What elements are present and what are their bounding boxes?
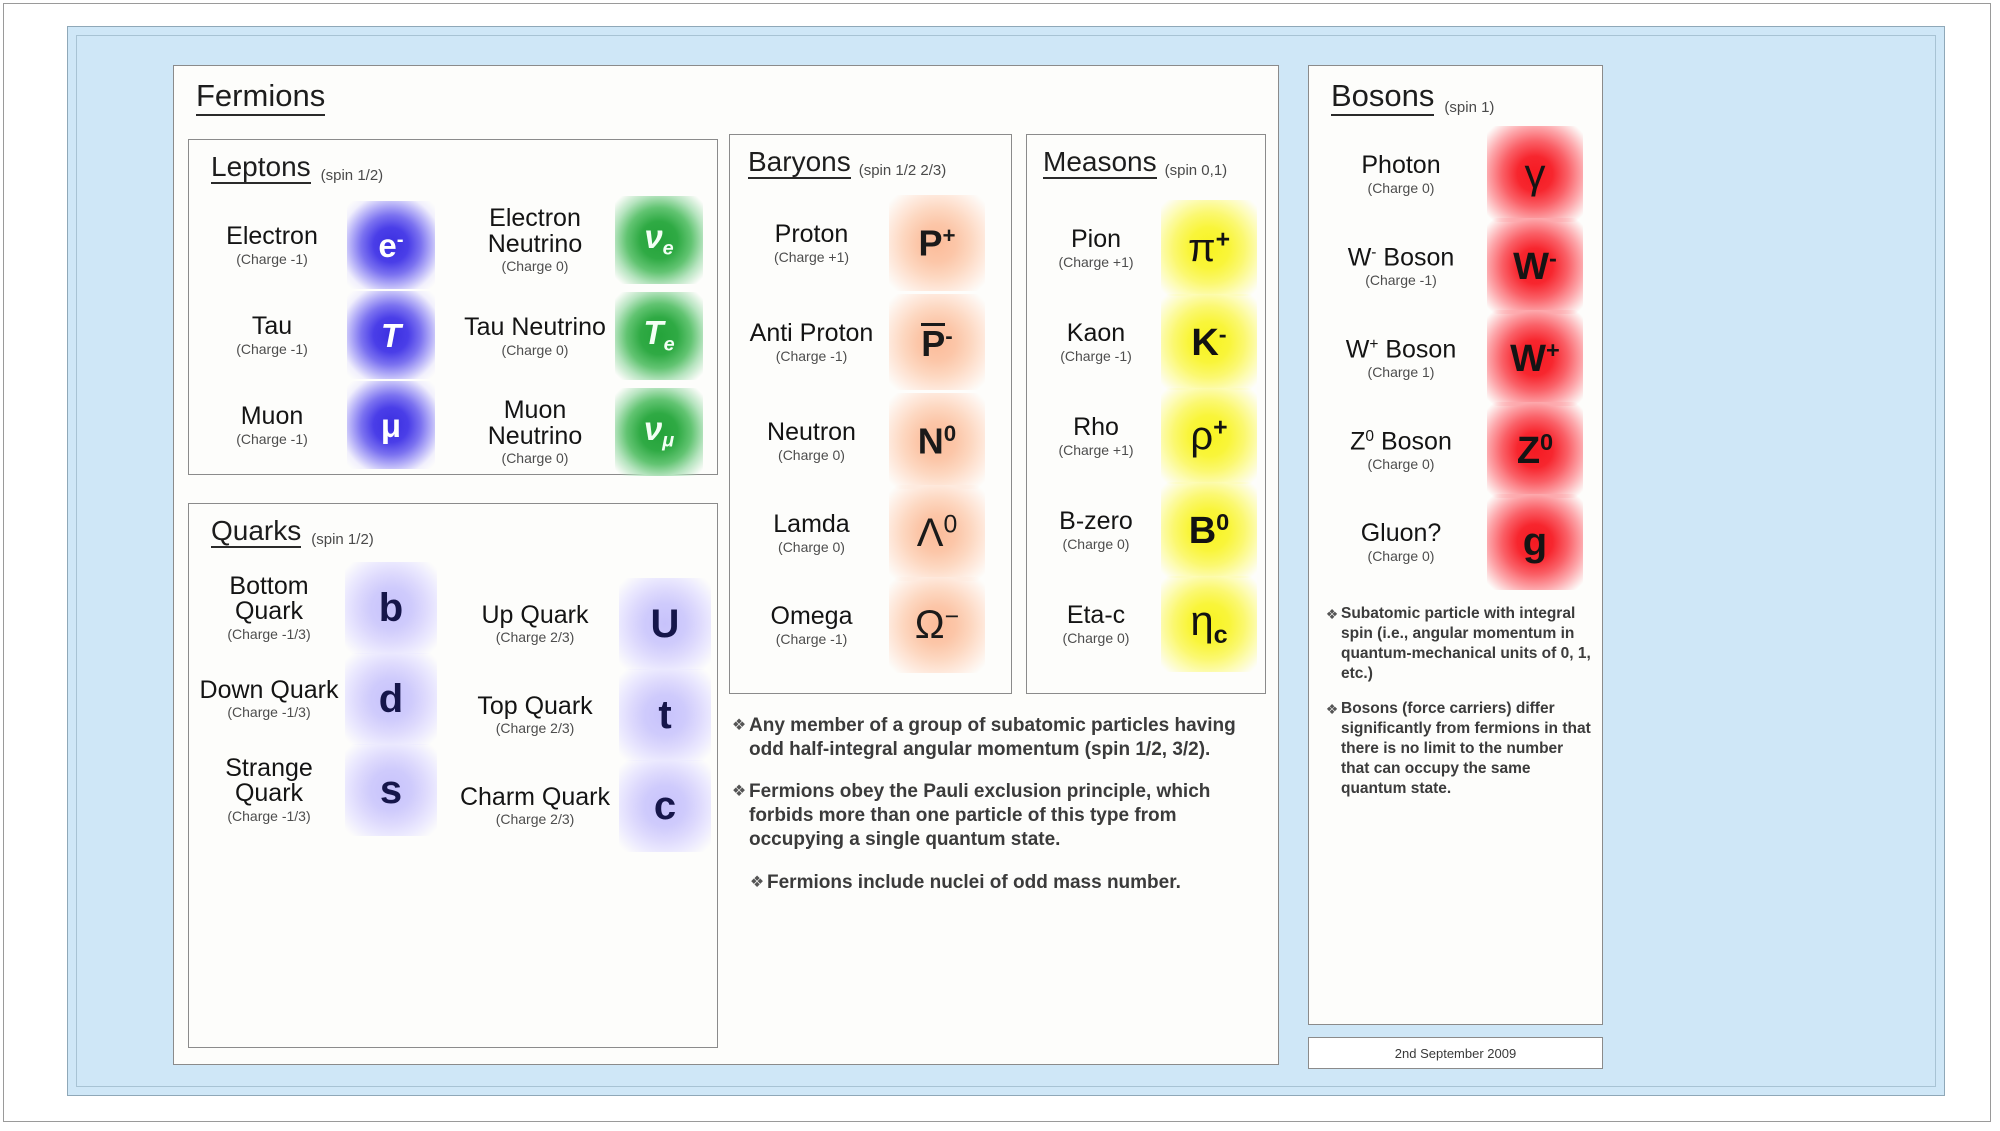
particle-symbol: T (643, 314, 663, 351)
particle-symbol-orb: s (345, 744, 437, 836)
bosons-note-text: Bosons (force carriers) differ significa… (1341, 699, 1591, 800)
particle-strange-quark: Strange Quark (Charge -1/3) s (193, 744, 453, 835)
bosons-title-row: Bosons (spin 1) (1331, 80, 1494, 116)
particle-symbol-orb: Ω− (889, 577, 985, 673)
particle-proton: Proton (Charge +1) P+ (734, 197, 1009, 289)
particle-symbol-sup: + (1216, 226, 1230, 253)
particle-symbol-sup: - (397, 227, 404, 250)
baryons-list: Proton (Charge +1) P+ Anti Proton (Charg… (734, 197, 1009, 671)
particle-symbol: W (1510, 337, 1546, 379)
particle-charge: (Charge 0) (734, 540, 889, 554)
particle-charge: (Charge -1) (734, 632, 889, 646)
particle-name-base: Z (1350, 427, 1365, 455)
particle-neutron: Neutron (Charge 0) N0 (734, 395, 1009, 487)
particle-name-base: W (1346, 335, 1370, 363)
particle-symbol: N (918, 420, 944, 461)
particle-charge: (Charge 0) (734, 448, 889, 462)
bullet-icon: ❖ (1323, 699, 1341, 719)
fermions-note-text: Any member of a group of subatomic parti… (749, 714, 1269, 763)
particle-symbol: ν (644, 218, 662, 255)
particle-muon: Muon (Charge -1) μ (197, 380, 455, 470)
particle-charge: (Charge 0) (1315, 181, 1487, 195)
particle-symbol-sub: e (664, 334, 675, 356)
bosons-notes: ❖ Subatomic particle with integral spin … (1323, 604, 1591, 813)
fermions-note: ❖ Any member of a group of subatomic par… (729, 714, 1269, 763)
bosons-note: ❖ Bosons (force carriers) differ signifi… (1323, 699, 1591, 800)
particle-symbol-orb: t (619, 669, 711, 761)
particle-symbol: U (651, 604, 680, 644)
particle-top-quark: Top Quark (Charge 2/3) t (451, 669, 713, 760)
particle-symbol-orb: T (347, 291, 435, 379)
particle-name: W+ Boson (1315, 337, 1487, 363)
quarks-title-row: Quarks (spin 1/2) (211, 516, 374, 548)
particle-symbol-orb: c (619, 760, 711, 852)
particle-photon: Photon (Charge 0) γ (1315, 128, 1600, 220)
particle-symbol-orb: e- (347, 201, 435, 289)
particle-symbol: η (1190, 597, 1213, 644)
measons-spin: (spin 0,1) (1165, 162, 1228, 179)
particle-name: Z0 Boson (1315, 429, 1487, 455)
date-label: 2nd September 2009 (1395, 1046, 1516, 1061)
particle-charge: (Charge +1) (1031, 255, 1161, 269)
particle-symbol-orb: μ (347, 381, 435, 469)
particle-charge: (Charge -1) (197, 252, 347, 266)
particle-symbol-orb: N0 (889, 393, 985, 489)
measons-box: Measons (spin 0,1) Pion (Charge +1) π+ (1026, 134, 1266, 694)
particle-symbol: t (658, 695, 671, 735)
particle-name: Strange Quark (193, 756, 345, 807)
particle-electron: Electron (Charge -1) e- (197, 200, 455, 290)
particle-symbol-sup: - (1219, 321, 1227, 347)
particle-b-zero: B-zero (Charge 0) B0 (1031, 483, 1265, 577)
particle-name: Neutron (734, 420, 889, 446)
particle-name: Pion (1031, 227, 1161, 253)
particle-symbol-orb: g (1487, 494, 1583, 590)
particle-symbol-sup: - (945, 323, 952, 348)
particle-symbol: γ (1525, 153, 1546, 195)
particle-symbol-sup: 0 (1216, 509, 1229, 535)
particle-symbol-orb: ηc (1161, 576, 1257, 672)
particle-name: Muon Neutrino (455, 398, 615, 449)
particle-charge: (Charge 1) (1315, 365, 1487, 379)
bosons-list: Photon (Charge 0) γ W- Boson (Charge -1)… (1315, 128, 1600, 588)
particle-symbol-orb: Te (615, 292, 703, 380)
particle-symbol-orb: d (345, 653, 437, 745)
particle-symbol-orb: Λ0 (889, 485, 985, 581)
particle-symbol-orb: ρ+ (1161, 388, 1257, 484)
quarks-left-column: Bottom Quark (Charge -1/3) b Down Quark … (193, 562, 453, 835)
particle-symbol: B (1189, 509, 1216, 551)
particle-symbol-orb: νe (615, 196, 703, 284)
particle-symbol-sup: + (1213, 414, 1227, 441)
particle-symbol-orb: W- (1487, 218, 1583, 314)
particle-name: Top Quark (451, 694, 619, 720)
particle-symbol-sup: 0 (1540, 429, 1553, 455)
particle-charge: (Charge 0) (1315, 457, 1487, 471)
measons-title-row: Measons (spin 0,1) (1043, 147, 1227, 179)
particle-symbol: s (380, 770, 402, 810)
particle-kaon: Kaon (Charge -1) K- (1031, 295, 1265, 389)
leptons-box: Leptons (spin 1/2) Electron (Charge -1) … (188, 139, 718, 475)
particle-charge: (Charge -1) (1315, 273, 1487, 287)
fermions-title-row: Fermions (196, 80, 325, 116)
baryons-title: Baryons (748, 147, 851, 179)
fermions-note: ❖ Fermions include nuclei of odd mass nu… (729, 871, 1269, 895)
particle-symbol-orb: γ (1487, 126, 1583, 222)
particle-eta-c: Eta-c (Charge 0) ηc (1031, 577, 1265, 671)
particle-symbol-orb: U (619, 578, 711, 670)
particle-symbol: P (921, 323, 945, 361)
particle-name: Charm Quark (451, 785, 619, 811)
particle-name: Gluon? (1315, 521, 1487, 547)
particle-symbol: Λ (917, 511, 944, 555)
particle-name: Tau (197, 314, 347, 340)
particle-charge: (Charge 2/3) (451, 721, 619, 735)
fermions-panel: Fermions Leptons (spin 1/2) Electron (Ch… (173, 65, 1279, 1065)
quarks-box: Quarks (spin 1/2) Bottom Quark (Charge -… (188, 503, 718, 1048)
particle-name: Photon (1315, 153, 1487, 179)
particle-symbol: d (379, 679, 403, 719)
particle-symbol-sup: 0 (943, 511, 957, 538)
bosons-title: Bosons (1331, 80, 1434, 116)
bosons-panel: Bosons (spin 1) Photon (Charge 0) γ W- B… (1308, 65, 1603, 1025)
particle-symbol-orb: Z0 (1487, 402, 1583, 498)
baryons-box: Baryons (spin 1/2 2/3) Proton (Charge +1… (729, 134, 1012, 694)
particle-symbol-orb: b (345, 562, 437, 654)
particle-lamda: Lamda (Charge 0) Λ0 (734, 487, 1009, 579)
quarks-spin: (spin 1/2) (311, 531, 374, 548)
particle-electron-neutrino: Electron Neutrino (Charge 0) νe (455, 192, 713, 288)
fermions-title: Fermions (196, 80, 325, 116)
particle-charge: (Charge 2/3) (451, 812, 619, 826)
particle-name: Electron (197, 224, 347, 250)
particle-symbol: b (379, 588, 403, 628)
particle-symbol: c (654, 786, 676, 826)
particle-rho: Rho (Charge +1) ρ+ (1031, 389, 1265, 483)
particle-symbol-orb: P- (889, 294, 985, 390)
particle-charge: (Charge +1) (734, 250, 889, 264)
particle-symbol: K (1191, 321, 1218, 363)
particle-symbol: π (1188, 226, 1216, 270)
particle-anti-proton: Anti Proton (Charge -1) P- (734, 289, 1009, 395)
particle-symbol-orb: K- (1161, 294, 1257, 390)
particle-symbol-orb: π+ (1161, 200, 1257, 296)
leptons-left-column: Electron (Charge -1) e- Tau (Charge -1) (197, 200, 455, 470)
particle-charge: (Charge -1/3) (193, 705, 345, 719)
particle-symbol-orb: B0 (1161, 482, 1257, 578)
particle-name: Muon (197, 404, 347, 430)
particle-symbol: ρ (1190, 414, 1213, 458)
particle-name: Kaon (1031, 321, 1161, 347)
particle-symbol: W (1513, 245, 1549, 287)
date-panel: 2nd September 2009 (1308, 1037, 1603, 1069)
particle-symbol-sup: 0 (944, 421, 956, 446)
particle-charge: (Charge -1) (734, 349, 889, 363)
baryons-title-row: Baryons (spin 1/2 2/3) (748, 147, 946, 179)
particle-symbol: ν (644, 410, 662, 447)
baryons-spin: (spin 1/2 2/3) (859, 162, 947, 179)
particle-muon-neutrino: Muon Neutrino (Charge 0) νμ (455, 384, 713, 480)
fermions-notes: ❖ Any member of a group of subatomic par… (729, 714, 1269, 912)
particle-name-sup: 0 (1365, 428, 1374, 445)
particle-symbol-sub: c (1214, 621, 1228, 649)
particle-symbol-orb: P+ (889, 195, 985, 291)
particle-name: Lamda (734, 512, 889, 538)
particle-tau-neutrino: Tau Neutrino (Charge 0) Te (455, 288, 713, 384)
particle-name: Tau Neutrino (455, 315, 615, 341)
particle-symbol-sup: + (942, 223, 955, 248)
particle-symbol-sup: − (945, 603, 959, 630)
particle-symbol-sub: e (663, 238, 674, 260)
bullet-icon: ❖ (729, 780, 749, 802)
leptons-title-row: Leptons (spin 1/2) (211, 152, 383, 184)
particle-name: W- Boson (1315, 245, 1487, 271)
bullet-icon: ❖ (747, 871, 767, 893)
particle-charge: (Charge -1) (197, 342, 347, 356)
quarks-title: Quarks (211, 516, 301, 548)
particle-z-zero-boson: Z0 Boson (Charge 0) Z0 (1315, 404, 1600, 496)
particle-bottom-quark: Bottom Quark (Charge -1/3) b (193, 562, 453, 653)
particle-symbol: Ω (915, 603, 945, 647)
particle-charge: (Charge 0) (455, 259, 615, 273)
particle-name: B-zero (1031, 509, 1161, 535)
particle-symbol: e (378, 227, 396, 264)
leptons-spin: (spin 1/2) (321, 167, 384, 184)
particle-w-minus-boson: W- Boson (Charge -1) W- (1315, 220, 1600, 312)
bosons-note-text: Subatomic particle with integral spin (i… (1341, 604, 1591, 685)
particle-symbol: μ (381, 409, 401, 442)
particle-symbol-sub: μ (662, 430, 674, 452)
particle-name: Proton (734, 222, 889, 248)
particle-name-base: W (1348, 243, 1372, 271)
blue-frame: Fermions Leptons (spin 1/2) Electron (Ch… (67, 26, 1945, 1096)
particle-name: Electron Neutrino (455, 206, 615, 257)
bosons-spin: (spin 1) (1444, 99, 1494, 116)
particle-name-tail: Boson (1376, 243, 1454, 271)
measons-list: Pion (Charge +1) π+ Kaon (Charge -1) (1031, 201, 1265, 671)
particle-tau: Tau (Charge -1) T (197, 290, 455, 380)
particle-name: Rho (1031, 415, 1161, 441)
bosons-note: ❖ Subatomic particle with integral spin … (1323, 604, 1591, 685)
particle-name-tail: Boson (1374, 427, 1452, 455)
particle-down-quark: Down Quark (Charge -1/3) d (193, 653, 453, 744)
particle-charge: (Charge -1/3) (193, 627, 345, 641)
particle-name: Up Quark (451, 603, 619, 629)
particle-symbol: g (1523, 522, 1547, 562)
particle-charge: (Charge 0) (1315, 549, 1487, 563)
particle-w-plus-boson: W+ Boson (Charge 1) W+ (1315, 312, 1600, 404)
fermions-note-text: Fermions include nuclei of odd mass numb… (767, 871, 1181, 895)
quarks-right-column: Up Quark (Charge 2/3) U Top Quark (Charg… (451, 578, 713, 851)
particle-charge: (Charge 0) (455, 451, 615, 465)
leptons-right-column: Electron Neutrino (Charge 0) νe Tau Neut… (455, 192, 713, 480)
particle-charge: (Charge -1/3) (193, 809, 345, 823)
fermions-note-text: Fermions obey the Pauli exclusion princi… (749, 780, 1269, 853)
particle-symbol: T (381, 319, 401, 352)
leptons-title: Leptons (211, 152, 311, 184)
particle-name: Eta-c (1031, 603, 1161, 629)
particle-name-tail: Boson (1378, 335, 1456, 363)
particle-charge: (Charge 0) (1031, 631, 1161, 645)
particle-up-quark: Up Quark (Charge 2/3) U (451, 578, 713, 669)
particle-omega: Omega (Charge -1) Ω− (734, 579, 1009, 671)
particle-charge: (Charge -1) (1031, 349, 1161, 363)
outer-frame: Fermions Leptons (spin 1/2) Electron (Ch… (3, 3, 1991, 1122)
particle-name: Omega (734, 604, 889, 630)
particle-name: Anti Proton (734, 321, 889, 347)
bullet-icon: ❖ (1323, 604, 1341, 624)
particle-symbol-orb: W+ (1487, 310, 1583, 406)
particle-charge: (Charge 0) (1031, 537, 1161, 551)
particle-symbol-sup: + (1546, 337, 1560, 363)
bullet-icon: ❖ (729, 714, 749, 736)
particle-symbol: Z (1517, 429, 1540, 471)
particle-name: Down Quark (193, 678, 345, 704)
particle-charge: (Charge -1) (197, 432, 347, 446)
measons-title: Measons (1043, 147, 1157, 179)
particle-charge: (Charge 2/3) (451, 630, 619, 644)
particle-symbol-orb: νμ (615, 388, 703, 476)
fermions-note: ❖ Fermions obey the Pauli exclusion prin… (729, 780, 1269, 853)
particle-charge: (Charge +1) (1031, 443, 1161, 457)
particle-symbol-sup: - (1549, 245, 1557, 271)
particle-pion: Pion (Charge +1) π+ (1031, 201, 1265, 295)
particle-symbol: P (918, 222, 942, 263)
particle-charm-quark: Charm Quark (Charge 2/3) c (451, 760, 713, 851)
particle-gluon: Gluon? (Charge 0) g (1315, 496, 1600, 588)
particle-charge: (Charge 0) (455, 343, 615, 357)
particle-name: Bottom Quark (193, 574, 345, 625)
